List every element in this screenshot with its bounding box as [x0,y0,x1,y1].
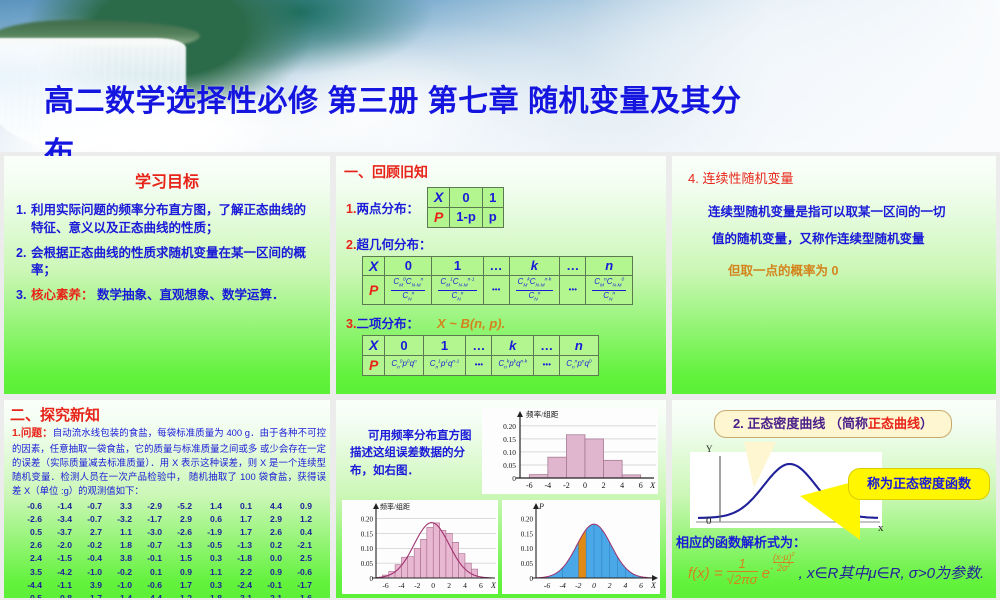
recap-item-label: 两点分布： [356,202,419,216]
svg-text:-6: -6 [544,581,551,590]
page-title: 高二数学选择性必修 第三册 第七章 随机变量及其分 [44,82,1000,123]
svg-text:-6: -6 [526,481,533,490]
data-cell: -0.6 [288,566,318,579]
data-cell: -0.6 [138,579,168,592]
chart-normal-density-area: 00.050.100.150.20-6-4-20246PX [502,500,660,594]
svg-text:X: X [650,581,657,590]
table-row: P Cn0p0qn Cn1p1qn-1 ••• Cnkpkqn-k ••• Cn… [363,355,599,375]
cell-x-value: 1 [432,256,483,276]
svg-text:4: 4 [463,581,467,590]
data-cell: 0.2 [258,539,288,552]
data-cell: -0.1 [138,552,168,565]
explore-heading: 二、探究新知 [10,404,330,425]
table-two-point-distribution: X 0 1 P 1-p p [427,187,504,228]
data-cell: -1.8 [198,592,228,598]
svg-text:2: 2 [608,581,612,590]
cell-p-value: p [482,207,503,227]
data-cell: -3.2 [108,513,138,526]
panel-learning-goals: 学习目标 1. 利用实际问题的频率分布直方图，了解正态曲线的特征、意义以及正态曲… [4,156,330,394]
cell-x-value: n [586,256,633,276]
callout-normal-density-function: 称为正态密度函数 [848,468,990,500]
svg-text:0.05: 0.05 [521,560,534,568]
svg-text:0.10: 0.10 [361,545,374,553]
data-cell: -1.3 [168,539,198,552]
data-cell: 0.1 [228,500,258,513]
learning-goals-title: 学习目标 [4,168,330,192]
learning-goals-list: 1. 利用实际问题的频率分布直方图，了解正态曲线的特征、意义以及正态曲线的性质；… [16,202,316,305]
svg-text:-4: -4 [559,581,566,590]
svg-text:频率/组距: 频率/组距 [526,409,559,419]
data-cell: -3.4 [48,513,78,526]
data-cell: -0.2 [108,566,138,579]
cell-p-value: 1-p [450,207,483,227]
table-row: X 0 1 … k … n [363,256,633,276]
panel-normal-density-curve: 2. 正态密度曲线 （简称正态曲线） 称为正态密度函数 相应的函数解析式为： f… [672,400,996,598]
table-binomial-distribution: X 0 1 … k … n P Cn0p0qn Cn1p1qn-1 ••• Cn… [362,335,599,376]
binomial-notation: X ~ B(n, p). [437,316,505,331]
observation-data-grid: -0.6-1.4-0.73.3-2.9-5.21.40.14.40.9 -2.6… [18,500,330,598]
cell-p-ellipsis: ••• [560,276,586,305]
recap-binom-label-row: 3.二项分布： X ~ B(n, p). [346,313,666,332]
cell-x-header: X [363,336,385,356]
cell-p-formula: CMnCN-M0CNn [586,276,633,305]
data-cell: 3.3 [108,500,138,513]
svg-text:0.15: 0.15 [503,435,516,444]
continuous-heading: 4. 连续性随机变量 [688,168,996,187]
panel-recap: 一、回顾旧知 1.两点分布： X 0 1 P 1-p p 2.超几何分布： [336,156,666,394]
data-cell: 1.4 [108,592,138,598]
formula-label: 相应的函数解析式为： [676,532,806,551]
goal-text-rest: 数学抽象、直观想象、数学运算． [94,288,285,302]
recap-item-number: 3. [346,317,356,331]
data-cell: -1.1 [48,579,78,592]
data-cell: 2.2 [228,566,258,579]
svg-text:4: 4 [623,581,627,590]
svg-text:2: 2 [602,481,606,490]
cell-x-ellipsis: … [483,256,509,276]
data-cell: -5.2 [168,500,198,513]
data-cell: -3.0 [138,526,168,539]
cell-x-ellipsis: … [466,336,492,356]
table-row: X 0 1 … k … n [363,336,599,356]
data-cell: 0.3 [198,552,228,565]
data-cell: -4.4 [18,579,48,592]
data-cell: -4.2 [48,566,78,579]
data-cell: 2.7 [78,526,108,539]
svg-text:-6: -6 [382,581,389,590]
cell-x-value: k [492,336,534,356]
svg-text:0: 0 [530,575,534,583]
callout-1-emphasis: 正态曲线 [868,416,920,431]
data-cell: -2.1 [288,539,318,552]
svg-text:0.15: 0.15 [361,530,374,538]
data-cell: 2.5 [288,552,318,565]
chart-coarse-frequency-histogram: 00.050.100.150.20-6-4-20246频率/组距X [482,408,658,494]
continuous-note: 但取一点的概率为 0 [728,263,996,280]
data-cell: -2.6 [18,513,48,526]
svg-text:0: 0 [431,581,435,590]
data-cell: -1.7 [138,513,168,526]
cell-x-header: X [427,188,449,208]
data-cell: -0.7 [78,500,108,513]
goal-text: 利用实际问题的频率分布直方图，了解正态曲线的特征、意义以及正态曲线的性质； [31,202,316,238]
svg-text:4: 4 [620,481,624,490]
recap-item-label: 二项分布： [356,317,419,331]
explore-item-label: 问题： [21,427,53,439]
cell-p-header: P [427,207,449,227]
svg-text:X: X [649,481,656,490]
cell-p-formula: CMkCN-Mn-kCNn [509,276,560,305]
svg-text:6: 6 [639,481,643,490]
svg-text:6: 6 [639,581,643,590]
table-row: P 1-p p [427,207,503,227]
slide-canvas: 高二数学选择性必修 第三册 第七章 随机变量及其分 布 学习目标 1. 利用实际… [0,0,1000,600]
svg-text:0.10: 0.10 [521,545,534,553]
data-cell: 1.7 [228,513,258,526]
cell-x-value: 1 [423,336,466,356]
data-cell: -0.1 [258,579,288,592]
data-cell: 2.6 [258,526,288,539]
cell-x-value: 0 [385,256,432,276]
table-hypergeometric-distribution: X 0 1 … k … n P CM0CN-MnCNn CM1CN-Mn-1CN… [362,256,633,305]
data-cell: -1.9 [198,526,228,539]
panel-explore-new-knowledge: 二、探究新知 1.问题：自动流水线包装的食盐，每袋标准质量为 400 g．由于各… [4,400,330,598]
continuous-paragraph-1: 连续型随机变量是指可以取某一区间的一切 [682,203,988,222]
callout-1-post: ） [920,416,933,431]
data-cell: 1.2 [288,513,318,526]
svg-text:-2: -2 [414,581,421,590]
recap-item-number: 2. [346,238,356,252]
goal-number: 2. [16,245,31,281]
svg-text:0.05: 0.05 [361,560,374,568]
recap-item-number: 1. [346,202,356,216]
data-cell: -1.6 [288,592,318,598]
waterfall-photo [0,0,1000,152]
svg-text:-2: -2 [575,581,582,590]
callout-normal-density-curve: 2. 正态密度曲线 （简称正态曲线） [714,410,952,438]
cell-p-ellipsis: ••• [466,355,492,375]
data-cell: 0.3 [198,579,228,592]
svg-text:0: 0 [592,581,596,590]
slide-header-banner: 高二数学选择性必修 第三册 第七章 随机变量及其分 [0,0,1000,152]
data-cell: -0.2 [78,539,108,552]
svg-text:6: 6 [479,581,483,590]
data-cell: 2.9 [168,513,198,526]
callout-1-tail [744,442,776,488]
svg-text:0.20: 0.20 [503,422,516,431]
cell-p-formula: Cn0p0qn [385,355,423,375]
data-cell: 3.5 [18,566,48,579]
data-cell: 1.7 [228,526,258,539]
continuous-paragraph-2: 值的随机变量，又称作连续型随机变量 [682,230,988,249]
data-cell: 0.5 [18,526,48,539]
cell-p-ellipsis: ••• [483,276,509,305]
goal-number: 1. [16,202,31,238]
list-item: 2. 会根据正态曲线的性质求随机变量在某一区间的概率； [16,245,316,281]
goal-text: 会根据正态曲线的性质求随机变量在某一区间的概率； [31,245,316,281]
list-item: 3. 核心素养： 数学抽象、直观想象、数学运算． [16,287,316,305]
normal-density-formula: f(x) = 1√2πσ e-(x-μ)22σ2 , x∈R其中μ∈R, σ>0… [688,552,984,587]
cell-p-header: P [363,276,385,305]
data-cell: 1.2 [168,592,198,598]
data-cell: 0.1 [138,566,168,579]
data-cell: -0.5 [198,539,228,552]
data-cell: 1.4 [198,500,228,513]
data-cell: 1.7 [78,592,108,598]
y-axis-label: Y [706,444,713,454]
data-cell: 1.1 [108,526,138,539]
cell-x-value: 0 [385,336,423,356]
cell-p-formula: CM1CN-Mn-1CNn [432,276,483,305]
svg-text:2: 2 [447,581,451,590]
svg-text:-4: -4 [398,581,405,590]
data-cell: 0.4 [288,526,318,539]
data-cell: 2.4 [18,552,48,565]
data-cell: 1.5 [168,552,198,565]
data-cell: -1.0 [108,579,138,592]
svg-text:0: 0 [370,575,374,583]
data-cell: -3.7 [48,526,78,539]
cell-p-formula: Cn1p1qn-1 [423,355,466,375]
cell-x-header: X [363,256,385,276]
explore-item-number: 1. [12,427,21,439]
svg-text:0.10: 0.10 [503,448,516,457]
data-cell: 1.7 [168,579,198,592]
svg-text:-4: -4 [545,481,552,490]
recap-two-point-row: 1.两点分布： X 0 1 P 1-p p [346,187,666,228]
data-cell: -2.1 [258,592,288,598]
data-cell: -1.4 [48,500,78,513]
cell-p-header: P [363,355,385,375]
data-cell: 4.4 [258,500,288,513]
explore-problem-text: 自动流水线包装的食盐，每袋标准质量为 400 g．由于各种不可控的因素，任意抽取… [12,427,326,496]
data-cell: -0.7 [138,539,168,552]
table-row: P CM0CN-MnCNn CM1CN-Mn-1CNn ••• CMkCN-Mn… [363,276,633,305]
header-gradient-fade [580,0,1000,152]
data-cell: -0.7 [78,513,108,526]
cell-x-value: n [560,336,598,356]
recap-two-point-label: 1.两点分布： [346,198,419,217]
data-cell: 3.8 [108,552,138,565]
data-cell: -1.7 [288,579,318,592]
data-cell: -2.9 [138,500,168,513]
callout-1-pre: 2. 正态密度曲线 （简称 [733,416,868,431]
cell-x-value: k [509,256,560,276]
goal-keyword: 核心素养： [31,288,94,302]
data-cell: 4.4 [138,592,168,598]
svg-text:P: P [538,502,544,511]
svg-text:X: X [490,581,497,590]
recap-hyper-label-row: 2.超几何分布： [346,234,666,254]
data-cell: -1.5 [48,552,78,565]
data-cell: 2.9 [258,513,288,526]
data-cell: 2.6 [18,539,48,552]
data-cell: 0.0 [258,552,288,565]
data-cell: -1.3 [228,539,258,552]
data-cell: -1.8 [228,552,258,565]
data-cell: -0.5 [18,592,48,598]
svg-text:0.05: 0.05 [503,461,516,470]
cell-x-value: 1 [482,188,503,208]
cell-p-ellipsis: ••• [534,355,560,375]
panel-continuous-random-variable: 4. 连续性随机变量 连续型随机变量是指可以取某一区间的一切 值的随机变量，又称… [672,156,996,394]
svg-text:0.20: 0.20 [521,515,534,523]
recap-binom-label: 3.二项分布： [346,313,419,332]
cell-x-ellipsis: … [560,256,586,276]
cell-p-formula: Cnnpnq0 [560,355,598,375]
data-cell: -2.6 [168,526,198,539]
data-cell: -0.8 [48,592,78,598]
goal-number: 3. [16,287,31,305]
data-cell: 0.9 [288,500,318,513]
data-cell: -2.4 [228,579,258,592]
svg-text:0: 0 [583,481,587,490]
data-cell: 0.9 [258,566,288,579]
data-cell: 1.1 [198,566,228,579]
svg-text:0: 0 [512,474,516,483]
recap-heading: 一、回顾旧知 [344,162,666,182]
table-row: X 0 1 [427,188,503,208]
svg-text:0.15: 0.15 [521,530,534,538]
data-cell: 0.9 [168,566,198,579]
histogram-note: 可用频率分布直方图描述这组误差数据的分布，如右图． [350,428,478,480]
data-cell: 1.8 [108,539,138,552]
cell-x-ellipsis: … [534,336,560,356]
data-cell: -3.1 [228,592,258,598]
recap-hyper-label: 2.超几何分布： [346,238,431,252]
data-cell: -2.0 [48,539,78,552]
chart-fine-frequency-histogram: 00.050.100.150.20-6-4-20246频率/组距X [342,500,498,594]
cell-x-value: 0 [450,188,483,208]
svg-text:-2: -2 [563,481,570,490]
list-item: 1. 利用实际问题的频率分布直方图，了解正态曲线的特征、意义以及正态曲线的性质； [16,202,316,238]
panel-histograms: 可用频率分布直方图描述这组误差数据的分布，如右图． 00.050.100.150… [336,400,666,598]
explore-problem-body: 1.问题：自动流水线包装的食盐，每袋标准质量为 400 g．由于各种不可控的因素… [12,426,326,498]
svg-text:频率/组距: 频率/组距 [380,502,410,511]
svg-text:0.20: 0.20 [361,515,374,523]
goal-text: 核心素养： 数学抽象、直观想象、数学运算． [31,287,316,305]
origin-label: 0 [706,515,712,527]
cell-p-formula: CM0CN-MnCNn [385,276,432,305]
data-cell: -1.0 [78,566,108,579]
x-axis-label: x [878,522,884,534]
cell-p-formula: Cnkpkqn-k [492,355,534,375]
data-cell: -0.6 [18,500,48,513]
recap-item-label: 超几何分布： [356,238,431,252]
data-cell: 3.9 [78,579,108,592]
data-cell: 0.6 [198,513,228,526]
data-cell: -0.4 [78,552,108,565]
